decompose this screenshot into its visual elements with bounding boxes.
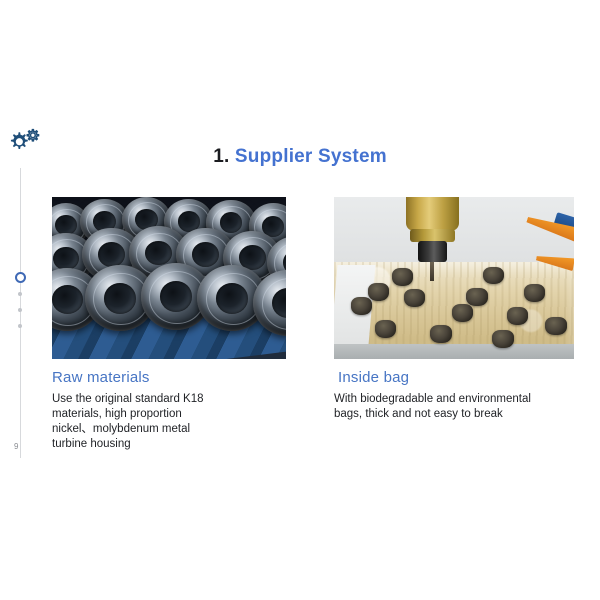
card-body-inside-bag: With biodegradable and environmental bag… xyxy=(334,392,574,422)
page-number: 9 xyxy=(14,442,18,451)
cnc-spindle-body xyxy=(406,197,459,231)
rail-dot-2[interactable] xyxy=(18,308,22,312)
card-inside-bag: Inside bag With biodegradable and enviro… xyxy=(334,197,574,422)
card-heading-inside-bag: Inside bag xyxy=(338,370,574,387)
cnc-drill-bit xyxy=(430,262,434,281)
cnc-scene xyxy=(334,197,574,359)
slide-canvas: 9 1. Supplier System xyxy=(0,0,600,600)
cnc-spindle-chuck xyxy=(418,241,447,262)
card-heading-raw-materials: Raw materials xyxy=(52,370,286,387)
card-raw-materials: Raw materials Use the original standard … xyxy=(52,197,286,452)
rail-dot-3[interactable] xyxy=(18,324,22,328)
cnc-machine-rail xyxy=(334,344,574,359)
rail-dot-1[interactable] xyxy=(18,292,22,296)
card-body-raw-materials: Use the original standard K18 materials,… xyxy=(52,392,286,453)
left-rail: 9 xyxy=(0,120,46,470)
turbine-scene xyxy=(52,197,286,359)
cnc-drilling-photo xyxy=(334,197,574,359)
rail-active-marker[interactable] xyxy=(15,272,26,283)
title-text: Supplier System xyxy=(235,146,387,167)
rail-progress-line xyxy=(20,168,21,458)
title-number: 1. xyxy=(213,146,229,167)
page-title: 1. Supplier System xyxy=(0,146,600,168)
turbine-housings-photo xyxy=(52,197,286,359)
